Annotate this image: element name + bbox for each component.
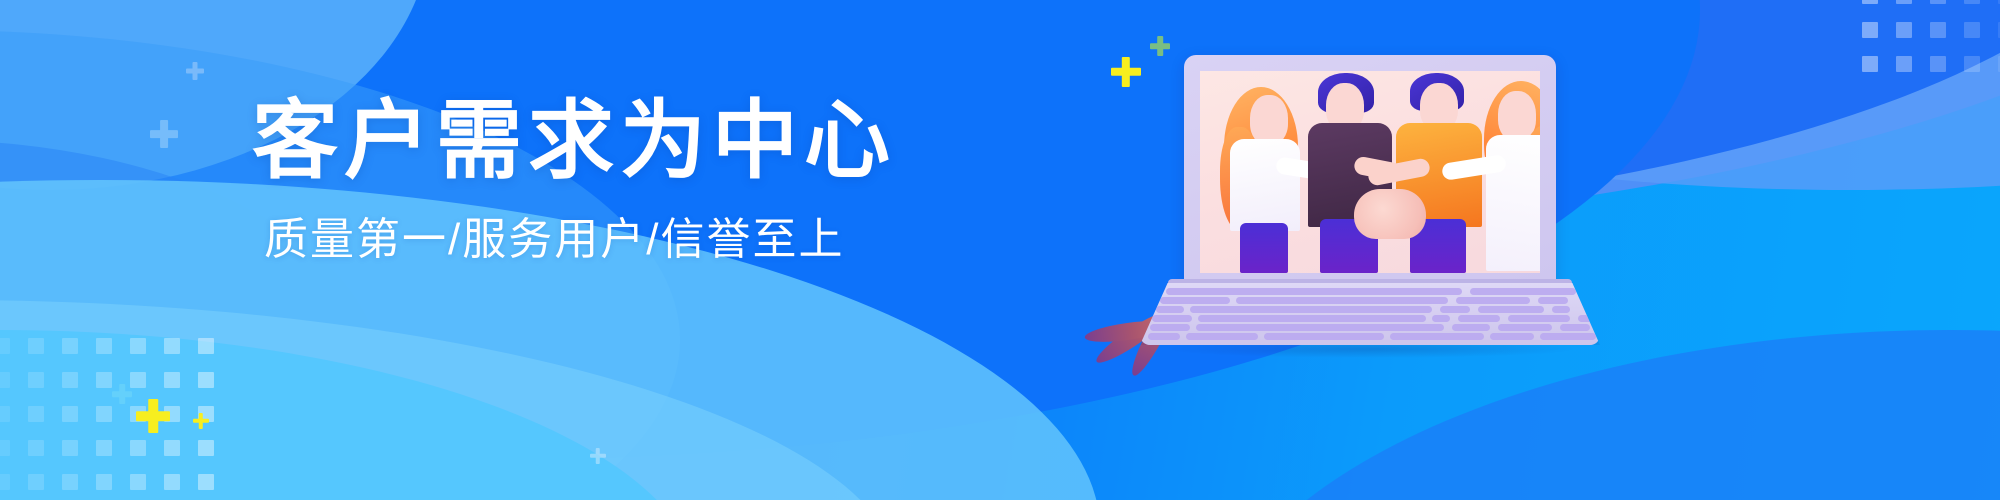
stacked-hands (1354, 189, 1426, 239)
keyboard-key (1458, 315, 1500, 322)
keyboard-key (1478, 306, 1544, 313)
keyboard-key (1470, 288, 1576, 295)
plus-icon (193, 413, 209, 429)
laptop-keyboard (1140, 283, 1600, 345)
banner-subheadline: 质量第一/服务用户/信誉至上 (264, 218, 1012, 262)
keyboard-key (1150, 324, 1190, 331)
keyboard-key (1198, 315, 1426, 322)
keyboard-key (1236, 297, 1448, 304)
promotional-banner: 客户需求为中心 质量第一/服务用户/信誉至上 (0, 0, 2000, 500)
background-wave-layer (0, 0, 270, 160)
keyboard-key (1190, 306, 1432, 313)
keyboard-key (1152, 315, 1192, 322)
keyboard-key (1166, 288, 1462, 295)
person-woman-right (1464, 71, 1540, 273)
plus-icon (1111, 57, 1141, 87)
laptop-teamwork-illustration (1140, 55, 1600, 355)
keyboard-key (1186, 333, 1258, 340)
keyboard-key (1160, 297, 1230, 304)
background-wave-layer (0, 330, 700, 500)
keyboard-key (1196, 324, 1444, 331)
keyboard-key (1552, 306, 1570, 313)
keyboard-key (1498, 324, 1552, 331)
banner-headline: 客户需求为中心 (252, 98, 1012, 184)
keyboard-key (1148, 333, 1180, 340)
keyboard-key (1578, 315, 1592, 322)
plus-icon (1150, 36, 1170, 56)
laptop-screen (1200, 71, 1540, 273)
keyboard-key (1452, 324, 1490, 331)
plus-icon (112, 384, 132, 404)
laptop-keyboard-base (1140, 283, 1600, 345)
background-wave-layer (0, 300, 900, 500)
plus-icon (186, 62, 204, 80)
keyboard-key (1432, 315, 1450, 322)
decorative-square-grid-bottom-left (0, 338, 244, 500)
keyboard-key (1264, 333, 1384, 340)
plus-icon (150, 120, 178, 148)
decorative-square-grid-top-right (1862, 0, 2000, 68)
keyboard-key (1156, 306, 1184, 313)
banner-copy-block: 客户需求为中心 质量第一/服务用户/信誉至上 (252, 98, 1012, 262)
plus-icon (590, 448, 606, 464)
keyboard-key (1490, 333, 1534, 340)
keyboard-key (1440, 306, 1470, 313)
plus-icon (136, 399, 170, 433)
keyboard-key (1560, 324, 1590, 331)
keyboard-key (1540, 333, 1596, 340)
keyboard-key (1390, 333, 1484, 340)
keyboard-key (1508, 315, 1570, 322)
laptop-lid (1184, 55, 1556, 285)
keyboard-key (1456, 297, 1530, 304)
keyboard-key (1538, 297, 1568, 304)
